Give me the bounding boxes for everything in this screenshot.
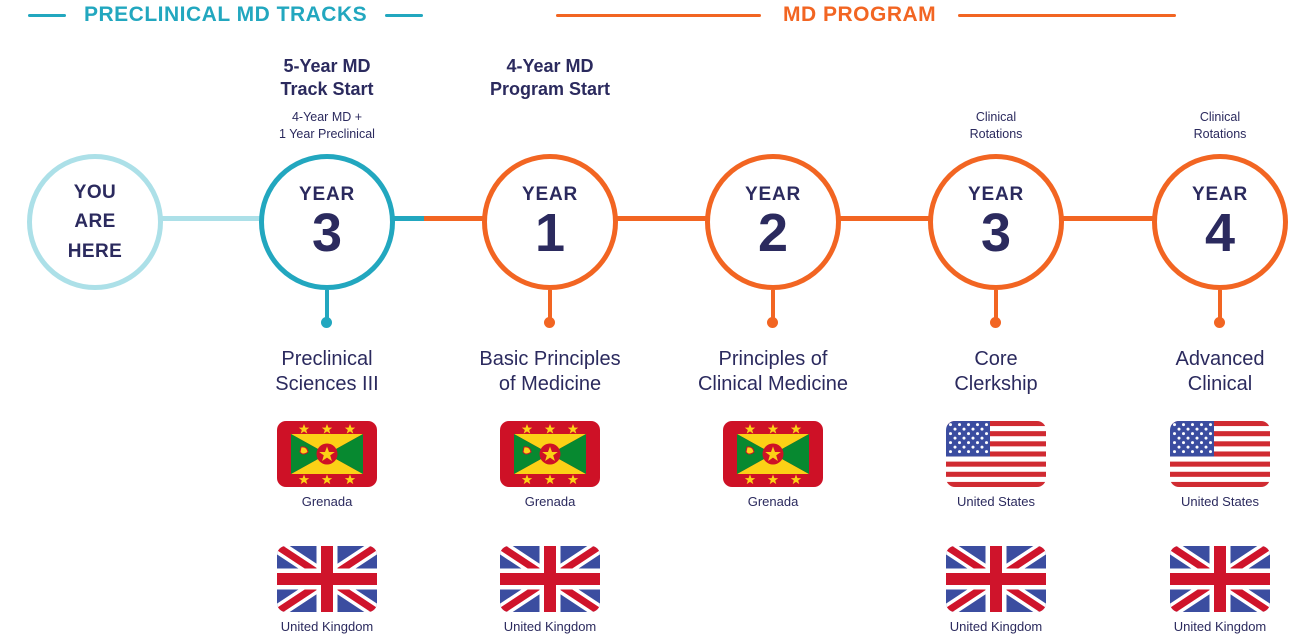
top-subtitle-line-1: 4-Year MD + — [292, 110, 362, 124]
node-dot-md-year3 — [990, 317, 1001, 328]
connector-here-to-year3 — [158, 216, 264, 221]
node-year-number: 2 — [758, 206, 788, 260]
node-stem-md-year3 — [994, 290, 998, 318]
course-line-2: Clinical Medicine — [698, 373, 848, 395]
top-title-line-2: Program Start — [490, 79, 610, 99]
node-year-number: 4 — [1205, 206, 1235, 260]
connector-year3-to-year1 — [424, 216, 488, 221]
horizontal-rule-icon — [28, 14, 66, 17]
flag-caption: United States — [916, 494, 1076, 509]
node-preclinical-year-3[interactable]: YEAR 3 — [259, 154, 395, 290]
course-line-1: Preclinical — [281, 348, 372, 370]
node-year-number: 3 — [981, 206, 1011, 260]
top-title-line-2: Track Start — [280, 79, 373, 99]
flag-block-us-year3: United States — [916, 421, 1076, 509]
flag-block-uk-year1: United Kingdom — [470, 546, 630, 634]
flag-caption: Grenada — [470, 494, 630, 509]
course-line-1: Core — [974, 348, 1017, 370]
top-small-line-1: Clinical — [976, 110, 1016, 124]
node-md-year-4[interactable]: YEAR 4 — [1152, 154, 1288, 290]
horizontal-rule-icon — [958, 14, 1176, 17]
header-bar: PRECLINICAL MD TRACKS MD PROGRAM — [0, 0, 1291, 34]
flag-united-states-icon — [1170, 421, 1270, 487]
flag-united-states-icon — [946, 421, 1046, 487]
header-title-preclinical: PRECLINICAL MD TRACKS — [84, 3, 367, 27]
flag-grenada-icon — [500, 421, 600, 487]
flag-caption: United Kingdom — [916, 619, 1076, 634]
node-you-are-here[interactable]: YOU ARE HERE — [27, 154, 163, 290]
flag-block-grenada-year2: Grenada — [693, 421, 853, 509]
flag-block-grenada-year1: Grenada — [470, 421, 630, 509]
node-stem-preclinical-year3 — [325, 290, 329, 318]
node-top-subtitle-preclinical-year3: 4-Year MD + 1 Year Preclinical — [217, 109, 437, 142]
you-are-here-line-2: ARE — [74, 211, 115, 232]
node-top-small-md-year3: Clinical Rotations — [886, 109, 1106, 142]
you-are-here-label: YOU ARE HERE — [68, 178, 122, 266]
horizontal-rule-icon — [556, 14, 761, 17]
flag-block-grenada-year3: Grenada — [247, 421, 407, 509]
flag-caption: United States — [1140, 494, 1291, 509]
flag-caption: Grenada — [247, 494, 407, 509]
flag-united-kingdom-icon — [946, 546, 1046, 612]
header-section-preclinical: PRECLINICAL MD TRACKS — [28, 3, 423, 27]
node-year-word: YEAR — [1192, 185, 1248, 204]
node-stem-md-year2 — [771, 290, 775, 318]
node-dot-md-year2 — [767, 317, 778, 328]
flag-caption: Grenada — [693, 494, 853, 509]
horizontal-rule-icon — [385, 14, 423, 17]
node-year-word: YEAR — [522, 185, 578, 204]
node-md-year-3[interactable]: YEAR 3 — [928, 154, 1064, 290]
node-dot-preclinical-year3 — [321, 317, 332, 328]
you-are-here-line-1: YOU — [74, 182, 116, 203]
node-dot-md-year4 — [1214, 317, 1225, 328]
course-line-1: Principles of — [719, 348, 828, 370]
node-top-title-preclinical-year3: 5-Year MD Track Start — [217, 55, 437, 102]
node-md-year-2[interactable]: YEAR 2 — [705, 154, 841, 290]
course-line-2: Clinical — [1188, 373, 1252, 395]
course-line-2: Sciences III — [275, 373, 378, 395]
node-year-word: YEAR — [968, 185, 1024, 204]
connector-year3-teal-stub — [390, 216, 426, 221]
connector-year3md-to-year4 — [1059, 216, 1159, 221]
top-title-line-1: 4-Year MD — [506, 56, 593, 76]
flag-caption: United Kingdom — [247, 619, 407, 634]
node-stem-md-year4 — [1218, 290, 1222, 318]
flag-block-uk-year3md: United Kingdom — [916, 546, 1076, 634]
node-top-title-md-year1: 4-Year MD Program Start — [440, 55, 660, 102]
flag-united-kingdom-icon — [277, 546, 377, 612]
connector-year1-to-year2 — [613, 216, 713, 221]
flag-caption: United Kingdom — [1140, 619, 1291, 634]
node-year-number: 1 — [535, 206, 565, 260]
connector-year2-to-year3md — [836, 216, 936, 221]
top-title-line-1: 5-Year MD — [283, 56, 370, 76]
course-line-2: of Medicine — [499, 373, 601, 395]
flag-united-kingdom-icon — [500, 546, 600, 612]
flag-grenada-icon — [277, 421, 377, 487]
flag-block-uk-year4: United Kingdom — [1140, 546, 1291, 634]
course-label-preclinical-sciences-iii: Preclinical Sciences III — [207, 347, 447, 398]
top-small-line-1: Clinical — [1200, 110, 1240, 124]
node-dot-md-year1 — [544, 317, 555, 328]
flag-united-kingdom-icon — [1170, 546, 1270, 612]
flag-grenada-icon — [723, 421, 823, 487]
top-small-line-2: Rotations — [1194, 127, 1247, 141]
course-label-core-clerkship: Core Clerkship — [876, 347, 1116, 398]
course-line-1: Advanced — [1176, 348, 1265, 370]
course-label-basic-principles-of-medicine: Basic Principles of Medicine — [430, 347, 670, 398]
node-top-small-md-year4: Clinical Rotations — [1110, 109, 1291, 142]
course-line-2: Clerkship — [954, 373, 1037, 395]
top-small-line-2: Rotations — [970, 127, 1023, 141]
flag-block-uk-year3: United Kingdom — [247, 546, 407, 634]
header-title-md-program: MD PROGRAM — [783, 3, 936, 27]
node-year-word: YEAR — [745, 185, 801, 204]
node-stem-md-year1 — [548, 290, 552, 318]
course-line-1: Basic Principles — [479, 348, 620, 370]
node-year-word: YEAR — [299, 185, 355, 204]
course-label-advanced-clinical: Advanced Clinical — [1100, 347, 1291, 398]
node-md-year-1[interactable]: YEAR 1 — [482, 154, 618, 290]
course-label-principles-of-clinical-medicine: Principles of Clinical Medicine — [653, 347, 893, 398]
top-subtitle-line-2: 1 Year Preclinical — [279, 127, 375, 141]
node-year-number: 3 — [312, 206, 342, 260]
flag-caption: United Kingdom — [470, 619, 630, 634]
header-section-md-program: MD PROGRAM — [556, 3, 1176, 27]
you-are-here-line-3: HERE — [68, 241, 122, 262]
flag-block-us-year4: United States — [1140, 421, 1291, 509]
